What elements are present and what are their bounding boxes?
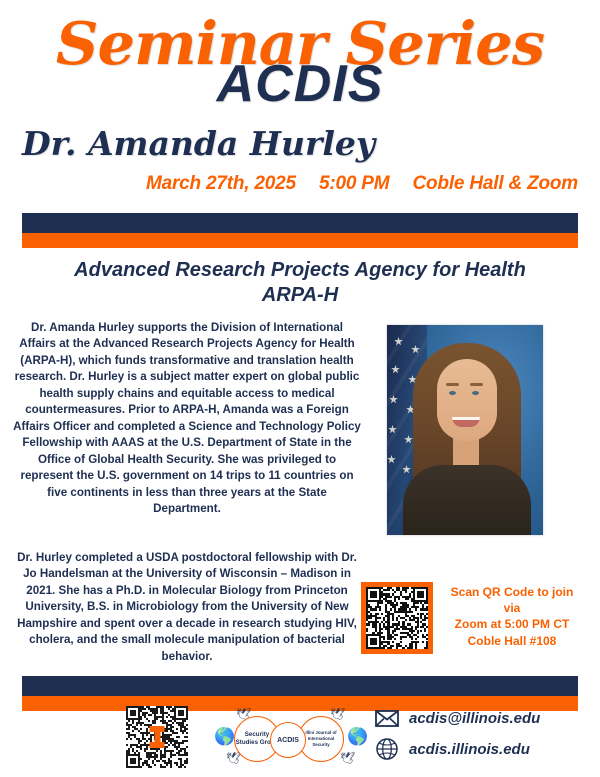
acdis-wordmark: ACDIS bbox=[0, 58, 600, 110]
portrait-eye-left bbox=[449, 391, 456, 395]
portrait-brow-right bbox=[470, 383, 483, 386]
portrait-face bbox=[437, 359, 497, 441]
contact-info: acdis@illinois.edu acdis.illinois.edu bbox=[374, 707, 584, 769]
zoom-meeting-qr-code[interactable] bbox=[366, 587, 428, 649]
event-details: March 27th, 2025 5:00 PM Coble Hall & Zo… bbox=[146, 173, 578, 195]
zoom-qr-section: Scan QR Code to join via Zoom at 5:00 PM… bbox=[361, 582, 581, 660]
talk-title-line-1: Advanced Research Projects Agency for He… bbox=[22, 258, 578, 283]
envelope-icon bbox=[374, 707, 400, 729]
zoom-qr-note-line-3: Coble Hall #108 bbox=[443, 633, 581, 649]
zoom-qr-note-line-1: Scan QR Code to join via bbox=[443, 584, 581, 616]
navy-bar bbox=[22, 676, 578, 696]
seminar-poster: Seminar Series ACDIS Dr. Amanda Hurley M… bbox=[0, 0, 600, 777]
contact-website[interactable]: acdis.illinois.edu bbox=[409, 741, 530, 758]
bio-paragraph-2: Dr. Hurley completed a USDA postdoctoral… bbox=[12, 550, 362, 665]
illinois-block-i-icon bbox=[150, 726, 165, 748]
illinois-qr-code[interactable] bbox=[126, 706, 188, 768]
speaker-portrait bbox=[387, 325, 543, 535]
logo-ring-acdis: ACDIS bbox=[270, 722, 306, 758]
globe-icon: 🌎 bbox=[214, 728, 235, 745]
portrait-brow-left bbox=[446, 383, 459, 386]
dove-icon: 🕊 bbox=[340, 752, 355, 764]
poster-footer: 🌎 🕊 🕊 Security Studies Group Illini Jour… bbox=[22, 706, 578, 774]
contact-email-row[interactable]: acdis@illinois.edu bbox=[374, 707, 584, 729]
speaker-name: Dr. Amanda Hurley bbox=[22, 125, 375, 163]
globe-icon bbox=[374, 738, 400, 760]
zoom-qr-frame[interactable] bbox=[361, 582, 433, 654]
portrait-eye-right bbox=[472, 391, 479, 395]
zoom-qr-note: Scan QR Code to join via Zoom at 5:00 PM… bbox=[443, 584, 581, 649]
orange-bar bbox=[22, 233, 578, 248]
globe-icon: 🌎 bbox=[347, 728, 368, 745]
bio-paragraph-1: Dr. Amanda Hurley supports the Division … bbox=[12, 320, 362, 517]
portrait-torso bbox=[403, 465, 531, 535]
navy-bar bbox=[22, 213, 578, 233]
zoom-qr-note-line-2: Zoom at 5:00 PM CT bbox=[443, 616, 581, 632]
contact-website-row[interactable]: acdis.illinois.edu bbox=[374, 738, 584, 760]
talk-title: Advanced Research Projects Agency for He… bbox=[22, 258, 578, 308]
event-time: 5:00 PM bbox=[319, 173, 389, 194]
acdis-logo: 🌎 🕊 🕊 Security Studies Group Illini Jour… bbox=[214, 708, 364, 768]
event-location: Coble Hall & Zoom bbox=[413, 173, 579, 194]
event-date: March 27th, 2025 bbox=[146, 173, 296, 194]
talk-title-line-2: ARPA-H bbox=[22, 283, 578, 308]
contact-email[interactable]: acdis@illinois.edu bbox=[409, 710, 540, 727]
top-divider-bars bbox=[22, 213, 578, 248]
dove-icon: 🕊 bbox=[330, 708, 345, 720]
